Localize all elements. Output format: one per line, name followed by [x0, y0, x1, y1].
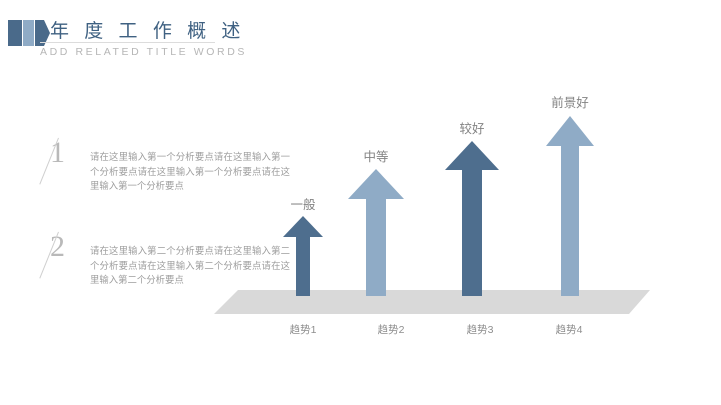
chart-arrow-2: 中等 — [348, 169, 404, 296]
mark-segment-dark — [8, 20, 22, 46]
point-number-badge-1: 1 — [46, 140, 92, 190]
slide-canvas: 年 度 工 作 概 述 ADD RELATED TITLE WORDS 1 请在… — [0, 0, 721, 405]
chart-arrow-label-3: 较好 — [459, 118, 484, 137]
chart-arrow-3: 较好 — [445, 141, 499, 296]
chart-arrow-1: 一般 — [283, 216, 323, 296]
chart-arrow-shape-4 — [546, 116, 594, 296]
chart-axis-label-1: 趋势1 — [290, 322, 317, 337]
page-subtitle: ADD RELATED TITLE WORDS — [40, 46, 247, 58]
point-number-badge-2: 2 — [46, 234, 92, 284]
slide-header: 年 度 工 作 概 述 ADD RELATED TITLE WORDS — [0, 0, 721, 70]
chart-arrow-shape-3 — [445, 141, 499, 296]
chart-axis-label-3: 趋势3 — [467, 322, 494, 337]
page-title: 年 度 工 作 概 述 — [50, 16, 245, 43]
header-divider — [40, 42, 215, 43]
chart-axis-label-4: 趋势4 — [556, 322, 583, 337]
arrow-bar-chart: 一般 趋势1 中等 趋势2 较好 趋势3 前景好 — [200, 70, 721, 370]
chart-arrow-label-4: 前景好 — [551, 92, 589, 111]
chart-arrow-label-1: 一般 — [290, 194, 315, 213]
chart-arrow-shape-1 — [283, 216, 323, 296]
chart-arrow-shape-2 — [348, 169, 404, 296]
chart-axis-label-2: 趋势2 — [378, 322, 405, 337]
chart-arrow-4: 前景好 — [546, 116, 594, 296]
chart-arrow-label-2: 中等 — [363, 146, 388, 165]
mark-segment-light — [23, 20, 34, 46]
